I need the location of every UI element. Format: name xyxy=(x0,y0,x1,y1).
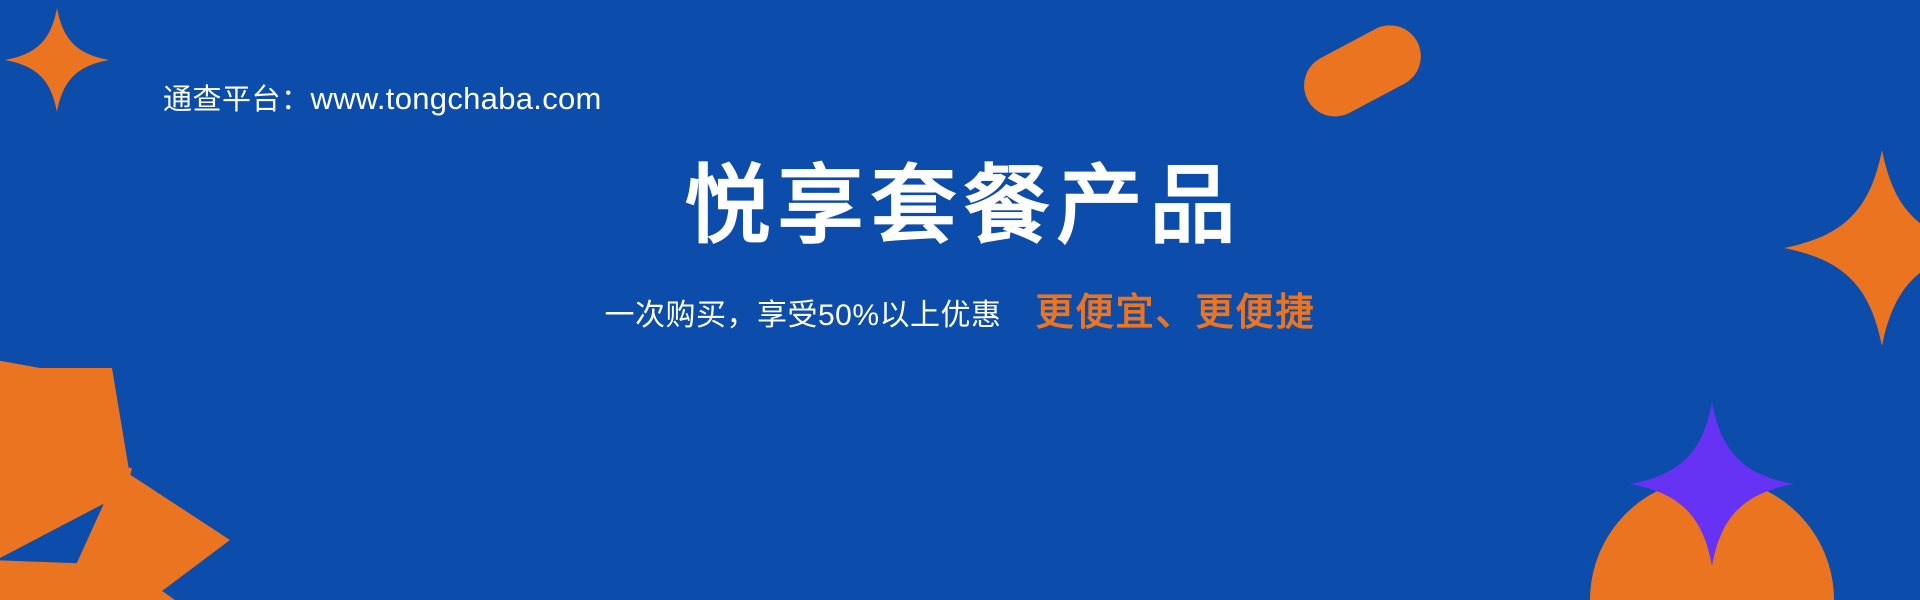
promo-banner: 通查平台： www.tongchaba.com 悦享套餐产品 一次购买，享受50… xyxy=(0,0,1920,600)
platform-line: 通查平台： www.tongchaba.com xyxy=(163,83,602,115)
platform-url[interactable]: www.tongchaba.com xyxy=(311,83,602,114)
subtitle-row: 一次购买，享受50%以上优惠 更便宜、更便捷 xyxy=(0,294,1920,332)
banner-content: 通查平台： www.tongchaba.com 悦享套餐产品 一次购买，享受50… xyxy=(0,0,1920,600)
platform-label: 通查平台： xyxy=(163,86,311,115)
subtitle-plain-text: 一次购买，享受50%以上优惠 xyxy=(604,301,1001,331)
page-title: 悦享套餐产品 xyxy=(0,160,1920,253)
subtitle-highlight-text: 更便宜、更便捷 xyxy=(1036,294,1316,332)
